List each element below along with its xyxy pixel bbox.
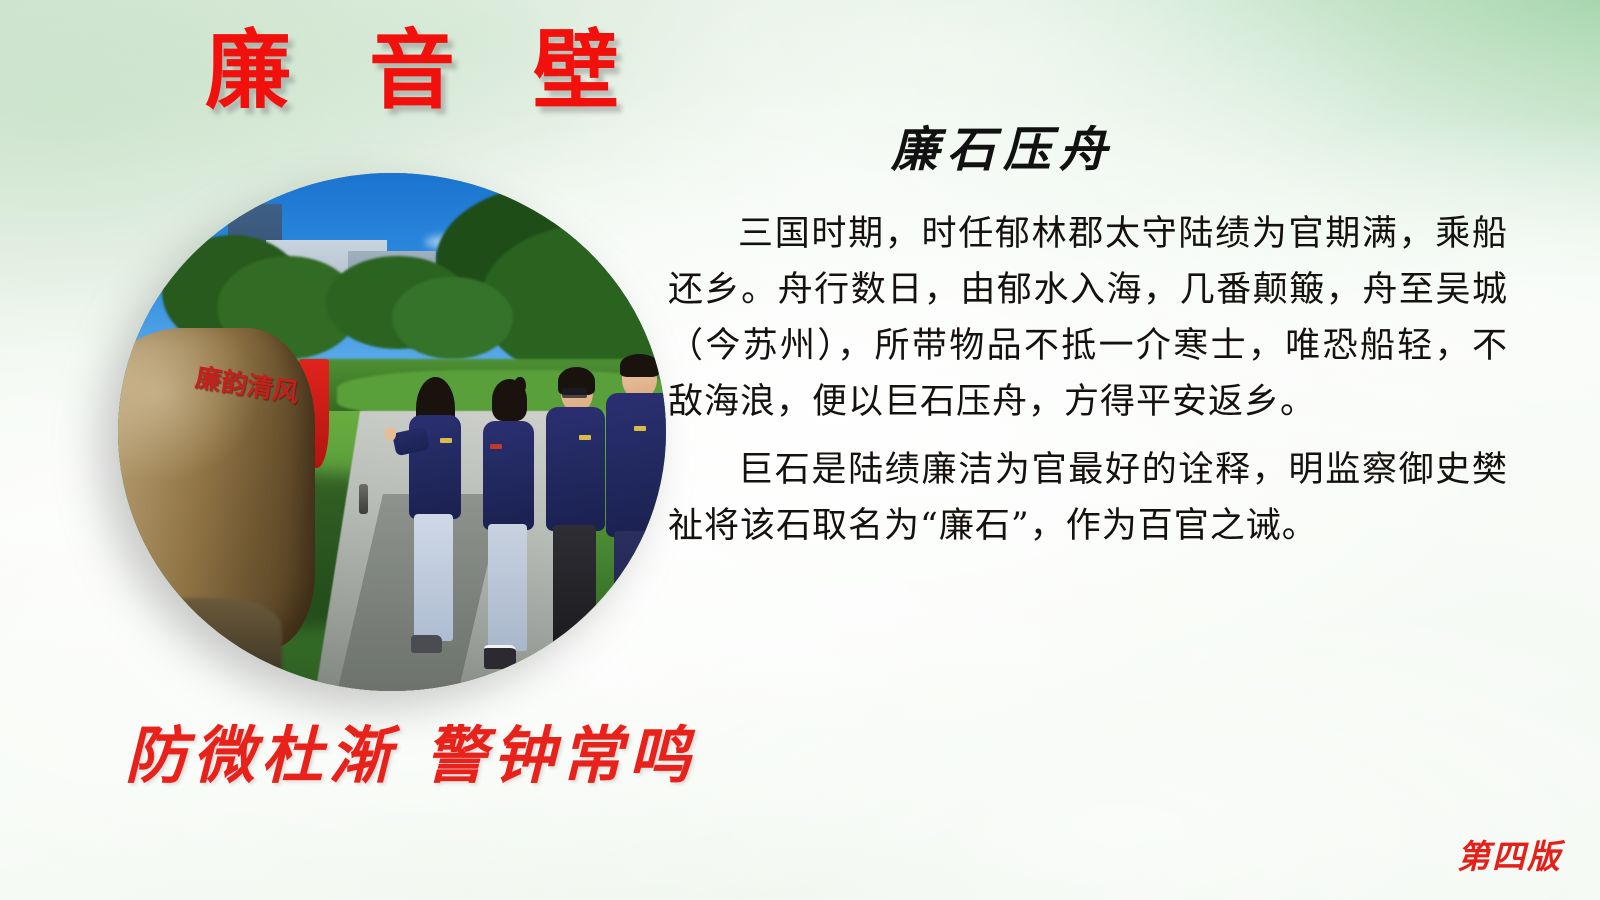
photo-tree	[162, 235, 304, 349]
article-paragraph: 巨石是陆绩廉洁为官最好的诠释，明监察御史樊祉将该石取名为“廉石”，作为百官之诫。	[668, 442, 1508, 554]
photo-person-hair-bun	[514, 377, 525, 395]
photo-tree	[436, 183, 666, 338]
circular-photo: 廉韵清风	[118, 173, 666, 691]
photo-tree	[326, 256, 468, 349]
photo-tree	[392, 277, 513, 360]
photo-person-shoe	[411, 635, 443, 652]
photo-person-torso	[546, 407, 606, 531]
photo-building	[266, 240, 387, 323]
photo-person-hand	[385, 427, 396, 442]
photo-person-legs	[614, 531, 663, 662]
photo-red-banner	[299, 359, 329, 468]
photo-tree	[217, 256, 359, 360]
photo-person-shoe	[484, 645, 516, 669]
article-block: 廉石压舟 三国时期，时任郁林郡太守陆绩为官期满，乘船还乡。舟行数日，由郁水入海，…	[668, 110, 1508, 558]
photo-building	[228, 204, 283, 318]
photo-tree	[545, 189, 666, 303]
photo-uniform-badge	[579, 435, 591, 440]
photo-person-hair	[620, 354, 659, 377]
edition-label: 第四版	[1457, 830, 1562, 878]
photo-uniform-badge	[634, 426, 646, 431]
photo-person-shoe	[549, 646, 584, 671]
photo-person	[600, 354, 666, 680]
photo-uniform-badge	[490, 444, 502, 449]
photo-person-torso	[606, 393, 666, 537]
photo-building	[348, 251, 436, 324]
page-title: 廉 音 壁	[205, 26, 643, 116]
article-body: 三国时期，时任郁林郡太守陆绩为官期满，乘船还乡。舟行数日，由郁水入海，几番颠簸，…	[668, 206, 1508, 554]
photo-bollard-lamp	[359, 484, 368, 514]
photo-person-legs	[553, 525, 596, 652]
photo-figure: 廉韵清风	[118, 173, 666, 691]
slogan-text: 防微杜渐 警钟常鸣	[125, 705, 697, 795]
article-title: 廉石压舟	[668, 110, 1508, 180]
photo-cloud	[425, 235, 485, 249]
photo-cloud	[513, 214, 555, 228]
monument-inscription: 廉韵清风	[193, 362, 301, 410]
photo-person-legs	[414, 514, 453, 642]
article-paragraph: 三国时期，时任郁林郡太守陆绩为官期满，乘船还乡。舟行数日，由郁水入海，几番颠簸，…	[668, 206, 1508, 430]
photo-person-legs	[488, 524, 527, 651]
photo-uniform-badge	[440, 438, 452, 443]
photo-person-torso	[483, 421, 534, 530]
photo-person-hair	[558, 367, 595, 395]
poster-canvas: 廉 音 壁	[0, 0, 1600, 900]
photo-monument-rock	[118, 328, 315, 649]
